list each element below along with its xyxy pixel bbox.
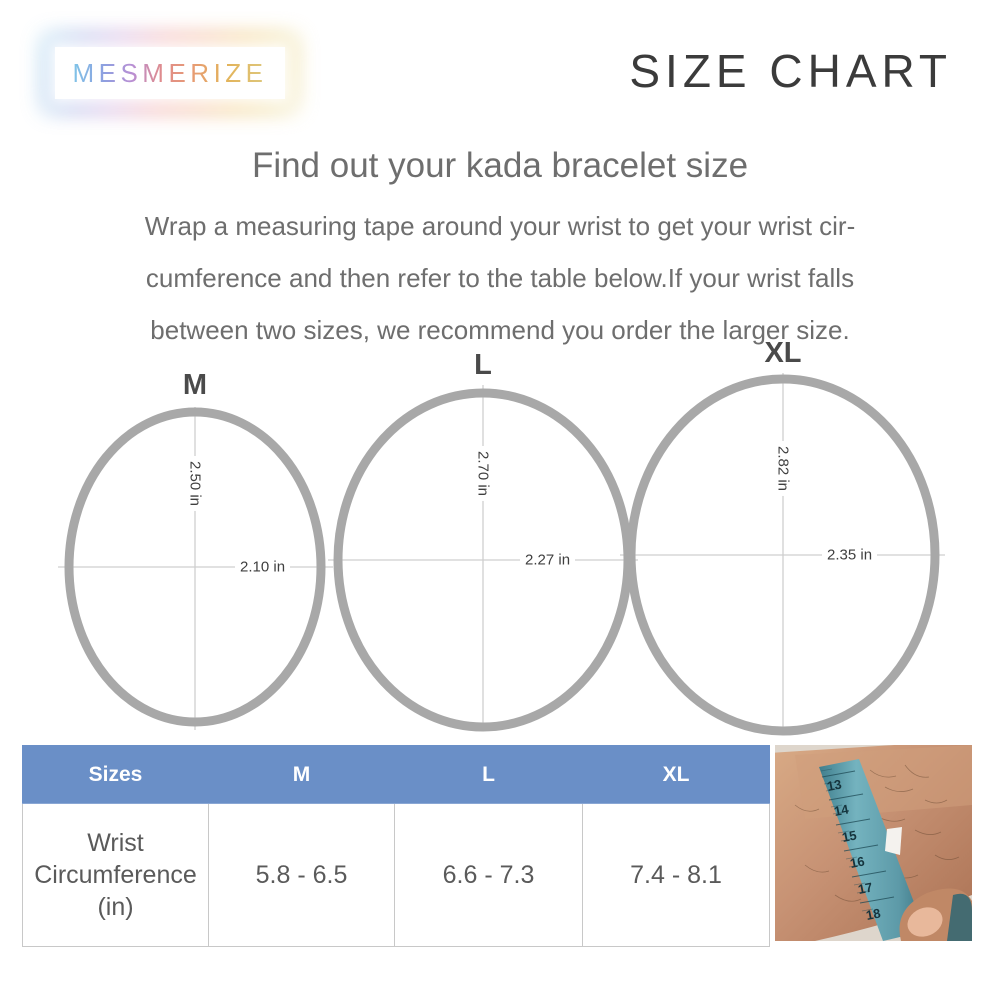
table-cell-l: 6.6 - 7.3 [395, 804, 583, 947]
intro-line-2: cumference and then refer to the table b… [48, 252, 952, 304]
tape-tag [885, 827, 902, 855]
table-header-row: Sizes M L XL [23, 746, 770, 804]
page-title: SIZE CHART [629, 44, 952, 98]
bracelet-diagram-svg [0, 345, 1000, 740]
intro-paragraph: Wrap a measuring tape around your wrist … [48, 200, 952, 356]
table-header-l: L [395, 746, 583, 804]
table-row-label: Wrist Circumference (in) [23, 804, 209, 947]
table-cell-xl: 7.4 - 8.1 [583, 804, 770, 947]
table-header-m: M [209, 746, 395, 804]
ellipse-height-m: 2.50 in [187, 456, 204, 511]
row-label-line-1: Wrist [24, 827, 207, 859]
ellipse-height-xl: 2.82 in [775, 441, 792, 496]
tape-mark-16: 16 [849, 853, 866, 870]
ellipse-height-l: 2.70 in [475, 446, 492, 501]
intro-line-1: Wrap a measuring tape around your wrist … [48, 200, 952, 252]
table-header-xl: XL [583, 746, 770, 804]
table-cell-m: 5.8 - 6.5 [209, 804, 395, 947]
ellipse-width-xl: 2.35 in [822, 547, 877, 564]
ellipse-label-l: L [474, 349, 492, 382]
ellipse-label-xl: XL [764, 337, 801, 370]
size-table: Sizes M L XL Wrist Circumference (in) 5.… [22, 745, 770, 947]
tape-mark-17: 17 [857, 879, 874, 896]
brand-logo: MESMERIZE [55, 47, 285, 99]
row-label-line-2: Circumference [24, 859, 207, 891]
wrist-measurement-photo: 13 14 15 16 17 18 [775, 745, 972, 941]
ellipse-width-m: 2.10 in [235, 559, 290, 576]
row-label-line-3: (in) [24, 891, 207, 923]
table-row: Wrist Circumference (in) 5.8 - 6.5 6.6 -… [23, 804, 770, 947]
tape-mark-18: 18 [865, 905, 882, 922]
table-header-sizes: Sizes [23, 746, 209, 804]
ellipse-label-m: M [183, 369, 207, 402]
tape-mark-15: 15 [841, 827, 858, 844]
tape-mark-13: 13 [826, 776, 843, 793]
brand-logo-text: MESMERIZE [72, 58, 267, 89]
headline: Find out your kada bracelet size [0, 146, 1000, 186]
ellipse-width-l: 2.27 in [520, 552, 575, 569]
wrist-photo-illustration: 13 14 15 16 17 18 [775, 745, 972, 941]
bracelet-diagram: M L XL 2.50 in 2.70 in 2.82 in 2.10 in 2… [0, 345, 1000, 740]
